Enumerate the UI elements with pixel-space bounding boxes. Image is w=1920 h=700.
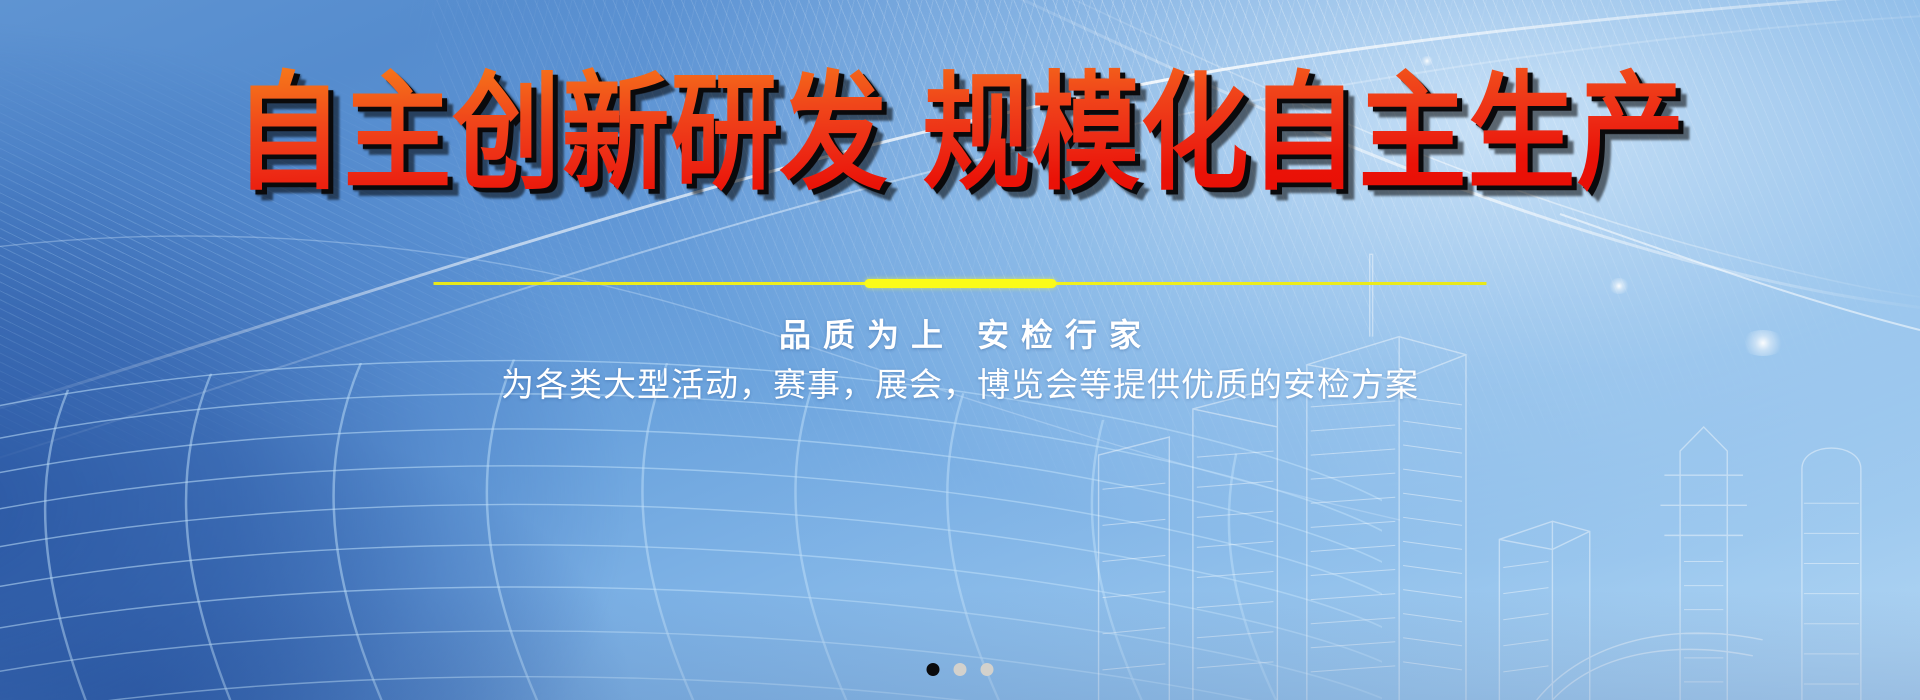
carousel-dot-2[interactable] xyxy=(954,663,967,676)
divider-center-bar xyxy=(864,279,1056,288)
slogan-part-1: 品质为上 xyxy=(779,316,955,354)
carousel-dot-1[interactable] xyxy=(927,663,940,676)
carousel-indicators[interactable] xyxy=(927,663,994,676)
headline-part-1: 自主创新研发 xyxy=(234,60,888,208)
slogan: 品质为上安检行家 xyxy=(0,310,1920,356)
carousel-dot-3[interactable] xyxy=(981,663,994,676)
title-divider xyxy=(434,278,1487,288)
slogan-part-2: 安检行家 xyxy=(977,316,1153,354)
page-title: 自主创新研发规模化自主生产 xyxy=(0,66,1920,204)
banner-description: 为各类大型活动，赛事，展会，博览会等提供优质的安检方案 xyxy=(0,358,1920,406)
banner-content: 自主创新研发规模化自主生产 品质为上安检行家 为各类大型活动，赛事，展会，博览会… xyxy=(0,0,1920,700)
hero-banner: 自主创新研发规模化自主生产 品质为上安检行家 为各类大型活动，赛事，展会，博览会… xyxy=(0,0,1920,700)
headline-part-2: 规模化自主生产 xyxy=(923,60,1686,208)
